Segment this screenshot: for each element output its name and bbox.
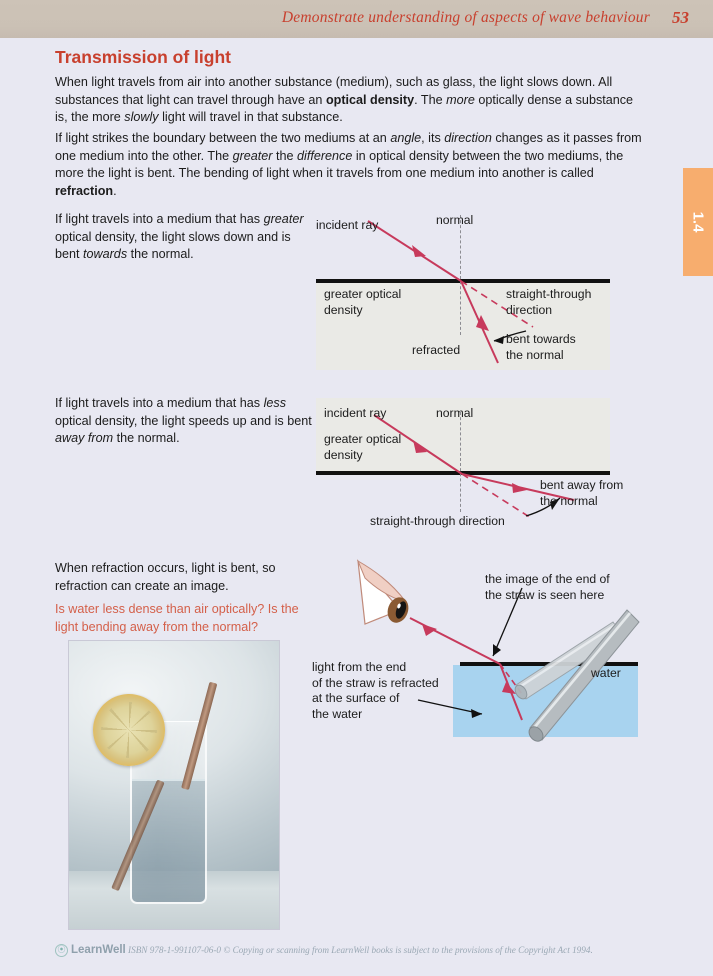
diagram1-label-refracted: refracted bbox=[412, 343, 460, 359]
diagram3-label-image-of-end: the image of the end of the straw is see… bbox=[485, 572, 655, 603]
paragraph-refraction: If light strikes the boundary between th… bbox=[55, 130, 649, 200]
diagram1-label-greater-optical-density: greater optical density bbox=[324, 287, 434, 318]
paragraph-less-density: If light travels into a medium that has … bbox=[55, 395, 317, 448]
page-number: 53 bbox=[672, 8, 689, 28]
diagram1-label-incident-ray: incident ray bbox=[316, 218, 378, 234]
paragraph-greater-density: If light travels into a medium that has … bbox=[55, 211, 317, 264]
photo-water bbox=[132, 779, 205, 902]
footer: ⦿LearnWell ISBN 978-1-991107-06-0 © Copy… bbox=[55, 944, 593, 957]
diagram2-label-greater-optical-density: greater optical density bbox=[324, 432, 434, 463]
chapter-tab-1-4[interactable]: 1.4 bbox=[683, 168, 713, 276]
diagram2-label-straight-through-direction: straight-through direction bbox=[370, 514, 505, 530]
chapter-tab-label: 1.4 bbox=[690, 212, 707, 233]
footer-copyright: © Copying or scanning from LearnWell boo… bbox=[223, 945, 592, 955]
inquiry-question: Is water less dense than air optically? … bbox=[55, 601, 305, 636]
diagram1-label-bent-towards-normal: bent towards the normal bbox=[506, 332, 626, 363]
eye-icon bbox=[358, 561, 412, 626]
diagram2-label-bent-away-from-normal: bent away from the normal bbox=[540, 478, 650, 509]
diagram2-label-incident-ray: incident ray bbox=[324, 406, 386, 422]
diagram-refraction-away-from-normal: incident ray normal greater optical dens… bbox=[316, 398, 636, 533]
photo-lemon-slice bbox=[93, 694, 165, 766]
diagram1-label-straight-through-direction: straight-through direction bbox=[506, 287, 616, 318]
leaf-icon: ⦿ bbox=[55, 944, 68, 957]
footer-brand: LearnWell bbox=[71, 944, 126, 956]
diagram2-label-normal: normal bbox=[436, 406, 473, 422]
glass-of-water-photo bbox=[68, 640, 280, 930]
page-title: Transmission of light bbox=[55, 47, 231, 68]
footer-isbn: ISBN 978-1-991107-06-0 bbox=[128, 945, 221, 955]
diagram3-label-water: water bbox=[591, 666, 621, 682]
diagram1-label-normal: normal bbox=[436, 213, 473, 229]
diagram3-label-light-from-end: light from the end of the straw is refra… bbox=[312, 660, 462, 722]
header-title: Demonstrate understanding of aspects of … bbox=[282, 9, 650, 27]
paragraph-image-creation: When refraction occurs, light is bent, s… bbox=[55, 560, 305, 595]
diagram-refraction-towards-normal: incident ray normal greater optical dens… bbox=[316, 205, 616, 375]
diagram-straw-in-water: the image of the end of the straw is see… bbox=[310, 552, 650, 747]
paragraph-intro: When light travels from air into another… bbox=[55, 74, 649, 127]
